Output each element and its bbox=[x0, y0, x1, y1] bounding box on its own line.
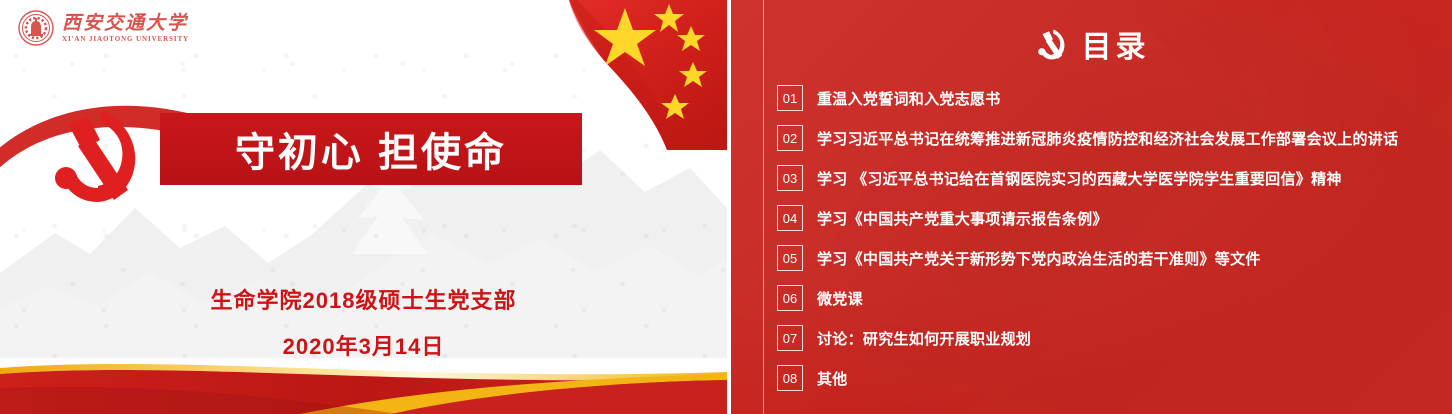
item-number: 02 bbox=[783, 131, 797, 146]
list-item[interactable]: 06 微党课 bbox=[777, 278, 1442, 318]
item-number: 07 bbox=[783, 331, 797, 346]
item-number: 05 bbox=[783, 251, 797, 266]
university-logo: 西安交通大学 XI'AN JIAOTONG UNIVERSITY bbox=[18, 10, 189, 46]
university-name: 西安交通大学 XI'AN JIAOTONG UNIVERSITY bbox=[62, 14, 189, 43]
item-number-badge: 06 bbox=[777, 285, 803, 311]
slide-title-banner: 守初心 担使命 bbox=[160, 113, 582, 185]
item-label: 重温入党誓词和入党志愿书 bbox=[817, 88, 1001, 109]
item-label: 学习《中国共产党关于新形势下党内政治生活的若干准则》等文件 bbox=[817, 248, 1261, 269]
cpc-hammer-sickle-emblem-white bbox=[1034, 28, 1068, 61]
item-label: 其他 bbox=[817, 368, 848, 389]
item-number: 06 bbox=[783, 291, 797, 306]
item-number: 08 bbox=[783, 371, 797, 386]
list-item[interactable]: 07 讨论：研究生如何开展职业规划 bbox=[777, 318, 1442, 358]
item-number-badge: 05 bbox=[777, 245, 803, 271]
slides-container: 西安交通大学 XI'AN JIAOTONG UNIVERSITY bbox=[0, 0, 1452, 414]
item-label: 学习 《习近平总书记给在首钢医院实习的西藏大学医学院学生重要回信》精神 bbox=[817, 168, 1342, 189]
contents-list: 01 重温入党誓词和入党志愿书 02 学习习近平总书记在统筹推进新冠肺炎疫情防控… bbox=[777, 78, 1442, 398]
item-number-badge: 03 bbox=[777, 165, 803, 191]
bottom-ribbon-decoration bbox=[0, 348, 727, 414]
item-number-badge: 04 bbox=[777, 205, 803, 231]
title-slide: 西安交通大学 XI'AN JIAOTONG UNIVERSITY bbox=[0, 0, 727, 414]
list-item[interactable]: 05 学习《中国共产党关于新形势下党内政治生活的若干准则》等文件 bbox=[777, 238, 1442, 278]
cpc-hammer-sickle-emblem bbox=[42, 106, 146, 206]
university-name-en: XI'AN JIAOTONG UNIVERSITY bbox=[62, 36, 189, 43]
item-label: 学习《中国共产党重大事项请示报告条例》 bbox=[817, 208, 1108, 229]
item-number-badge: 02 bbox=[777, 125, 803, 151]
item-label: 微党课 bbox=[817, 288, 863, 309]
item-label: 学习习近平总书记在统筹推进新冠肺炎疫情防控和经济社会发展工作部署会议上的讲话 bbox=[817, 128, 1398, 149]
list-item[interactable]: 04 学习《中国共产党重大事项请示报告条例》 bbox=[777, 198, 1442, 238]
list-item[interactable]: 01 重温入党誓词和入党志愿书 bbox=[777, 78, 1442, 118]
contents-slide: 目录 01 重温入党誓词和入党志愿书 02 学习习近平总书记在统筹推进新冠肺炎疫… bbox=[731, 0, 1452, 414]
item-label: 讨论：研究生如何开展职业规划 bbox=[817, 328, 1031, 349]
subtitle-organization: 生命学院2018级硕士生党支部 bbox=[0, 283, 727, 315]
slide-title: 守初心 担使命 bbox=[235, 120, 507, 178]
item-number-badge: 01 bbox=[777, 85, 803, 111]
item-number: 03 bbox=[783, 171, 797, 186]
university-seal-icon bbox=[18, 10, 54, 46]
list-item[interactable]: 08 其他 bbox=[777, 358, 1442, 398]
contents-title: 目录 bbox=[1082, 22, 1150, 66]
list-item[interactable]: 03 学习 《习近平总书记给在首钢医院实习的西藏大学医学院学生重要回信》精神 bbox=[777, 158, 1442, 198]
university-name-cn: 西安交通大学 bbox=[62, 14, 189, 33]
item-number-badge: 08 bbox=[777, 365, 803, 391]
contents-header: 目录 bbox=[731, 22, 1452, 66]
item-number: 04 bbox=[783, 211, 797, 226]
item-number-badge: 07 bbox=[777, 325, 803, 351]
list-item[interactable]: 02 学习习近平总书记在统筹推进新冠肺炎疫情防控和经济社会发展工作部署会议上的讲… bbox=[777, 118, 1442, 158]
item-number: 01 bbox=[783, 91, 797, 106]
